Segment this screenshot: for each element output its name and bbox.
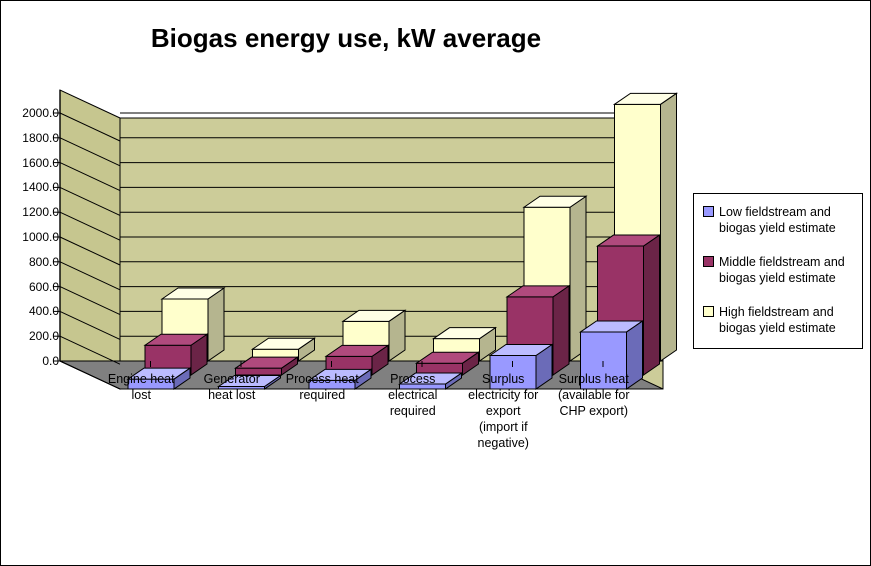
x-tick-label: Generatorheat lost [180,371,285,403]
x-tick-label-line: electrical [388,388,437,402]
chart-container: Biogas energy use, kW average 0.0200.040… [0,0,871,566]
x-tick-label-line: required [299,388,345,402]
x-tick-label-line: (available for [558,388,630,402]
legend-label-high: High fieldstream andbiogas yield estimat… [719,304,836,336]
x-axis: Engine heatlostGeneratorheat lostProcess… [1,1,701,521]
legend-swatch-middle-icon [703,256,714,267]
x-tick-label-line: Surplus heat [559,372,629,386]
legend-swatch-high-icon [703,306,714,317]
x-tick-label-line: required [390,404,436,418]
chart-legend: Low fieldstream andbiogas yield estimate… [693,193,863,349]
plot-area: 0.0200.0400.0600.0800.01000.01200.01400.… [1,1,701,521]
x-tick-label-line: CHP export) [559,404,628,418]
legend-item[interactable]: High fieldstream andbiogas yield estimat… [703,304,854,336]
x-tick-label-line: Surplus [482,372,524,386]
legend-item[interactable]: Low fieldstream andbiogas yield estimate [703,204,854,236]
x-tick-label-line: export [486,404,521,418]
x-tick-label: Engine heatlost [89,371,194,403]
x-tick-label-line: electricity for [468,388,538,402]
legend-swatch-low-icon [703,206,714,217]
x-tick-label: Surpluselectricity forexport(import ifne… [451,371,556,451]
x-tick-label: Process heatrequired [270,371,375,403]
x-tick-label-line: Engine heat [108,372,175,386]
x-tick-label-line: lost [132,388,151,402]
x-tick-label-line: Process [390,372,435,386]
legend-item[interactable]: Middle fieldstream andbiogas yield estim… [703,254,854,286]
x-tick-label: Surplus heat(available forCHP export) [542,371,647,419]
x-tick-label-line: Process heat [286,372,359,386]
x-tick-label-line: Generator [204,372,260,386]
x-tick-label-line: heat lost [208,388,255,402]
x-tick-label-line: (import if [479,420,528,434]
x-tick-label-line: negative) [478,436,529,450]
legend-label-middle: Middle fieldstream andbiogas yield estim… [719,254,845,286]
legend-label-low: Low fieldstream andbiogas yield estimate [719,204,836,236]
x-tick-label: Processelectricalrequired [361,371,466,419]
